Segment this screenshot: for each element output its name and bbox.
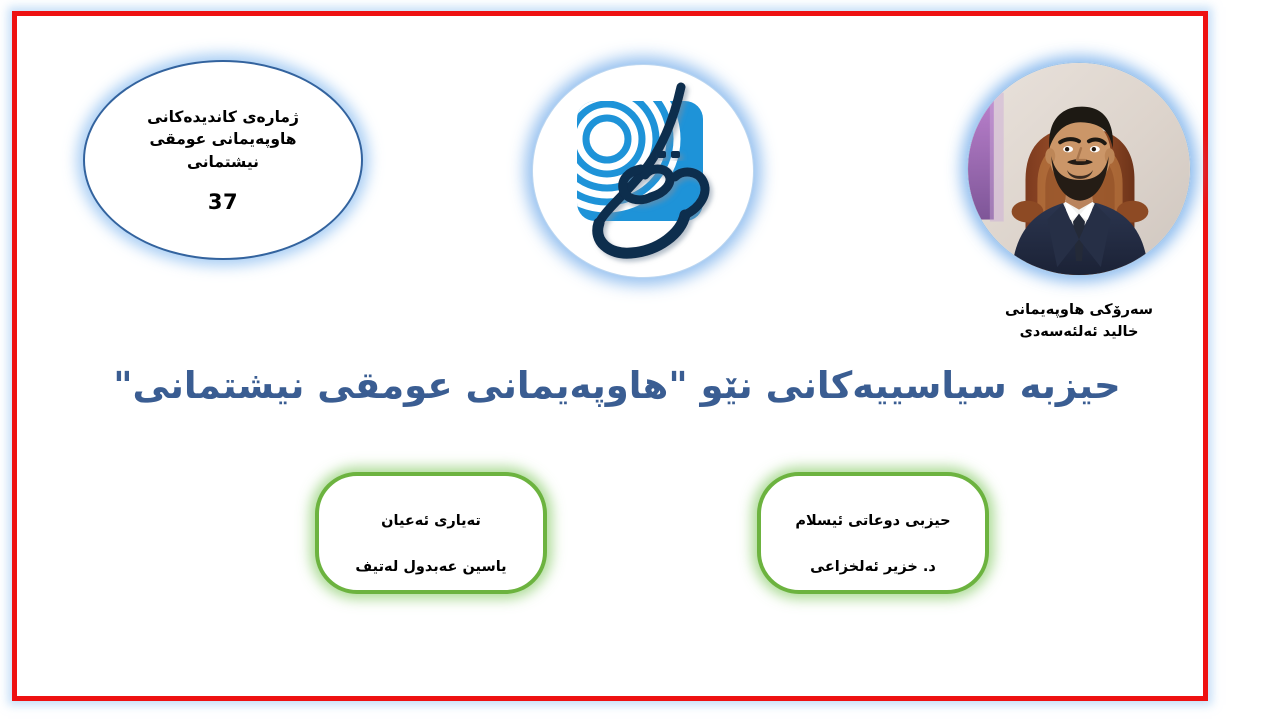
candidate-count-label: ژمارەی کاندیدەکانی هاوپەیمانی عومقی نیشت…: [147, 106, 299, 173]
alliance-leader-caption: سەرۆکی هاوپەیمانی خالید ئەلئەسەدی: [957, 299, 1201, 344]
omq-logo-icon: [533, 65, 753, 277]
party-card-duat-islam[interactable]: حیزبی دوعاتی ئیسلام د. خزیر ئەلخزاعی: [757, 472, 989, 594]
party-card-left-text: تەیاری ئەعیان یاسین عەبدول لەتیف: [355, 487, 506, 580]
alliance-leader-photo: [967, 62, 1191, 276]
party-left-title: تەیاری ئەعیان: [381, 513, 481, 529]
caption-title: سەرۆکی هاوپەیمانی: [957, 299, 1201, 321]
candidate-count-number: 37: [208, 190, 238, 214]
portrait-illustration: [968, 63, 1190, 275]
party-card-right-text: حیزبی دوعاتی ئیسلام د. خزیر ئەلخزاعی: [795, 487, 950, 580]
candidate-count-ellipse: ژمارەی کاندیدەکانی هاوپەیمانی عومقی نیشت…: [83, 60, 363, 260]
alliance-leader-figure: [967, 62, 1191, 276]
party-left-leader: یاسین عەبدول لەتیف: [355, 559, 506, 575]
slide-headline: حیزبە سیاسییەکانی نێو "هاوپەیمانی عومقی …: [77, 364, 1157, 408]
party-right-leader: د. خزیر ئەلخزاعی: [810, 559, 936, 575]
party-card-tayar-ayan[interactable]: تەیاری ئەعیان یاسین عەبدول لەتیف: [315, 472, 547, 594]
slide-red-frame: ژمارەی کاندیدەکانی هاوپەیمانی عومقی نیشت…: [12, 11, 1208, 701]
party-right-title: حیزبی دوعاتی ئیسلام: [795, 513, 950, 529]
omq-logo-badge: [532, 64, 754, 278]
caption-name: خالید ئەلئەسەدی: [957, 321, 1201, 343]
slide-canvas: ژمارەی کاندیدەکانی هاوپەیمانی عومقی نیشت…: [17, 16, 1203, 696]
